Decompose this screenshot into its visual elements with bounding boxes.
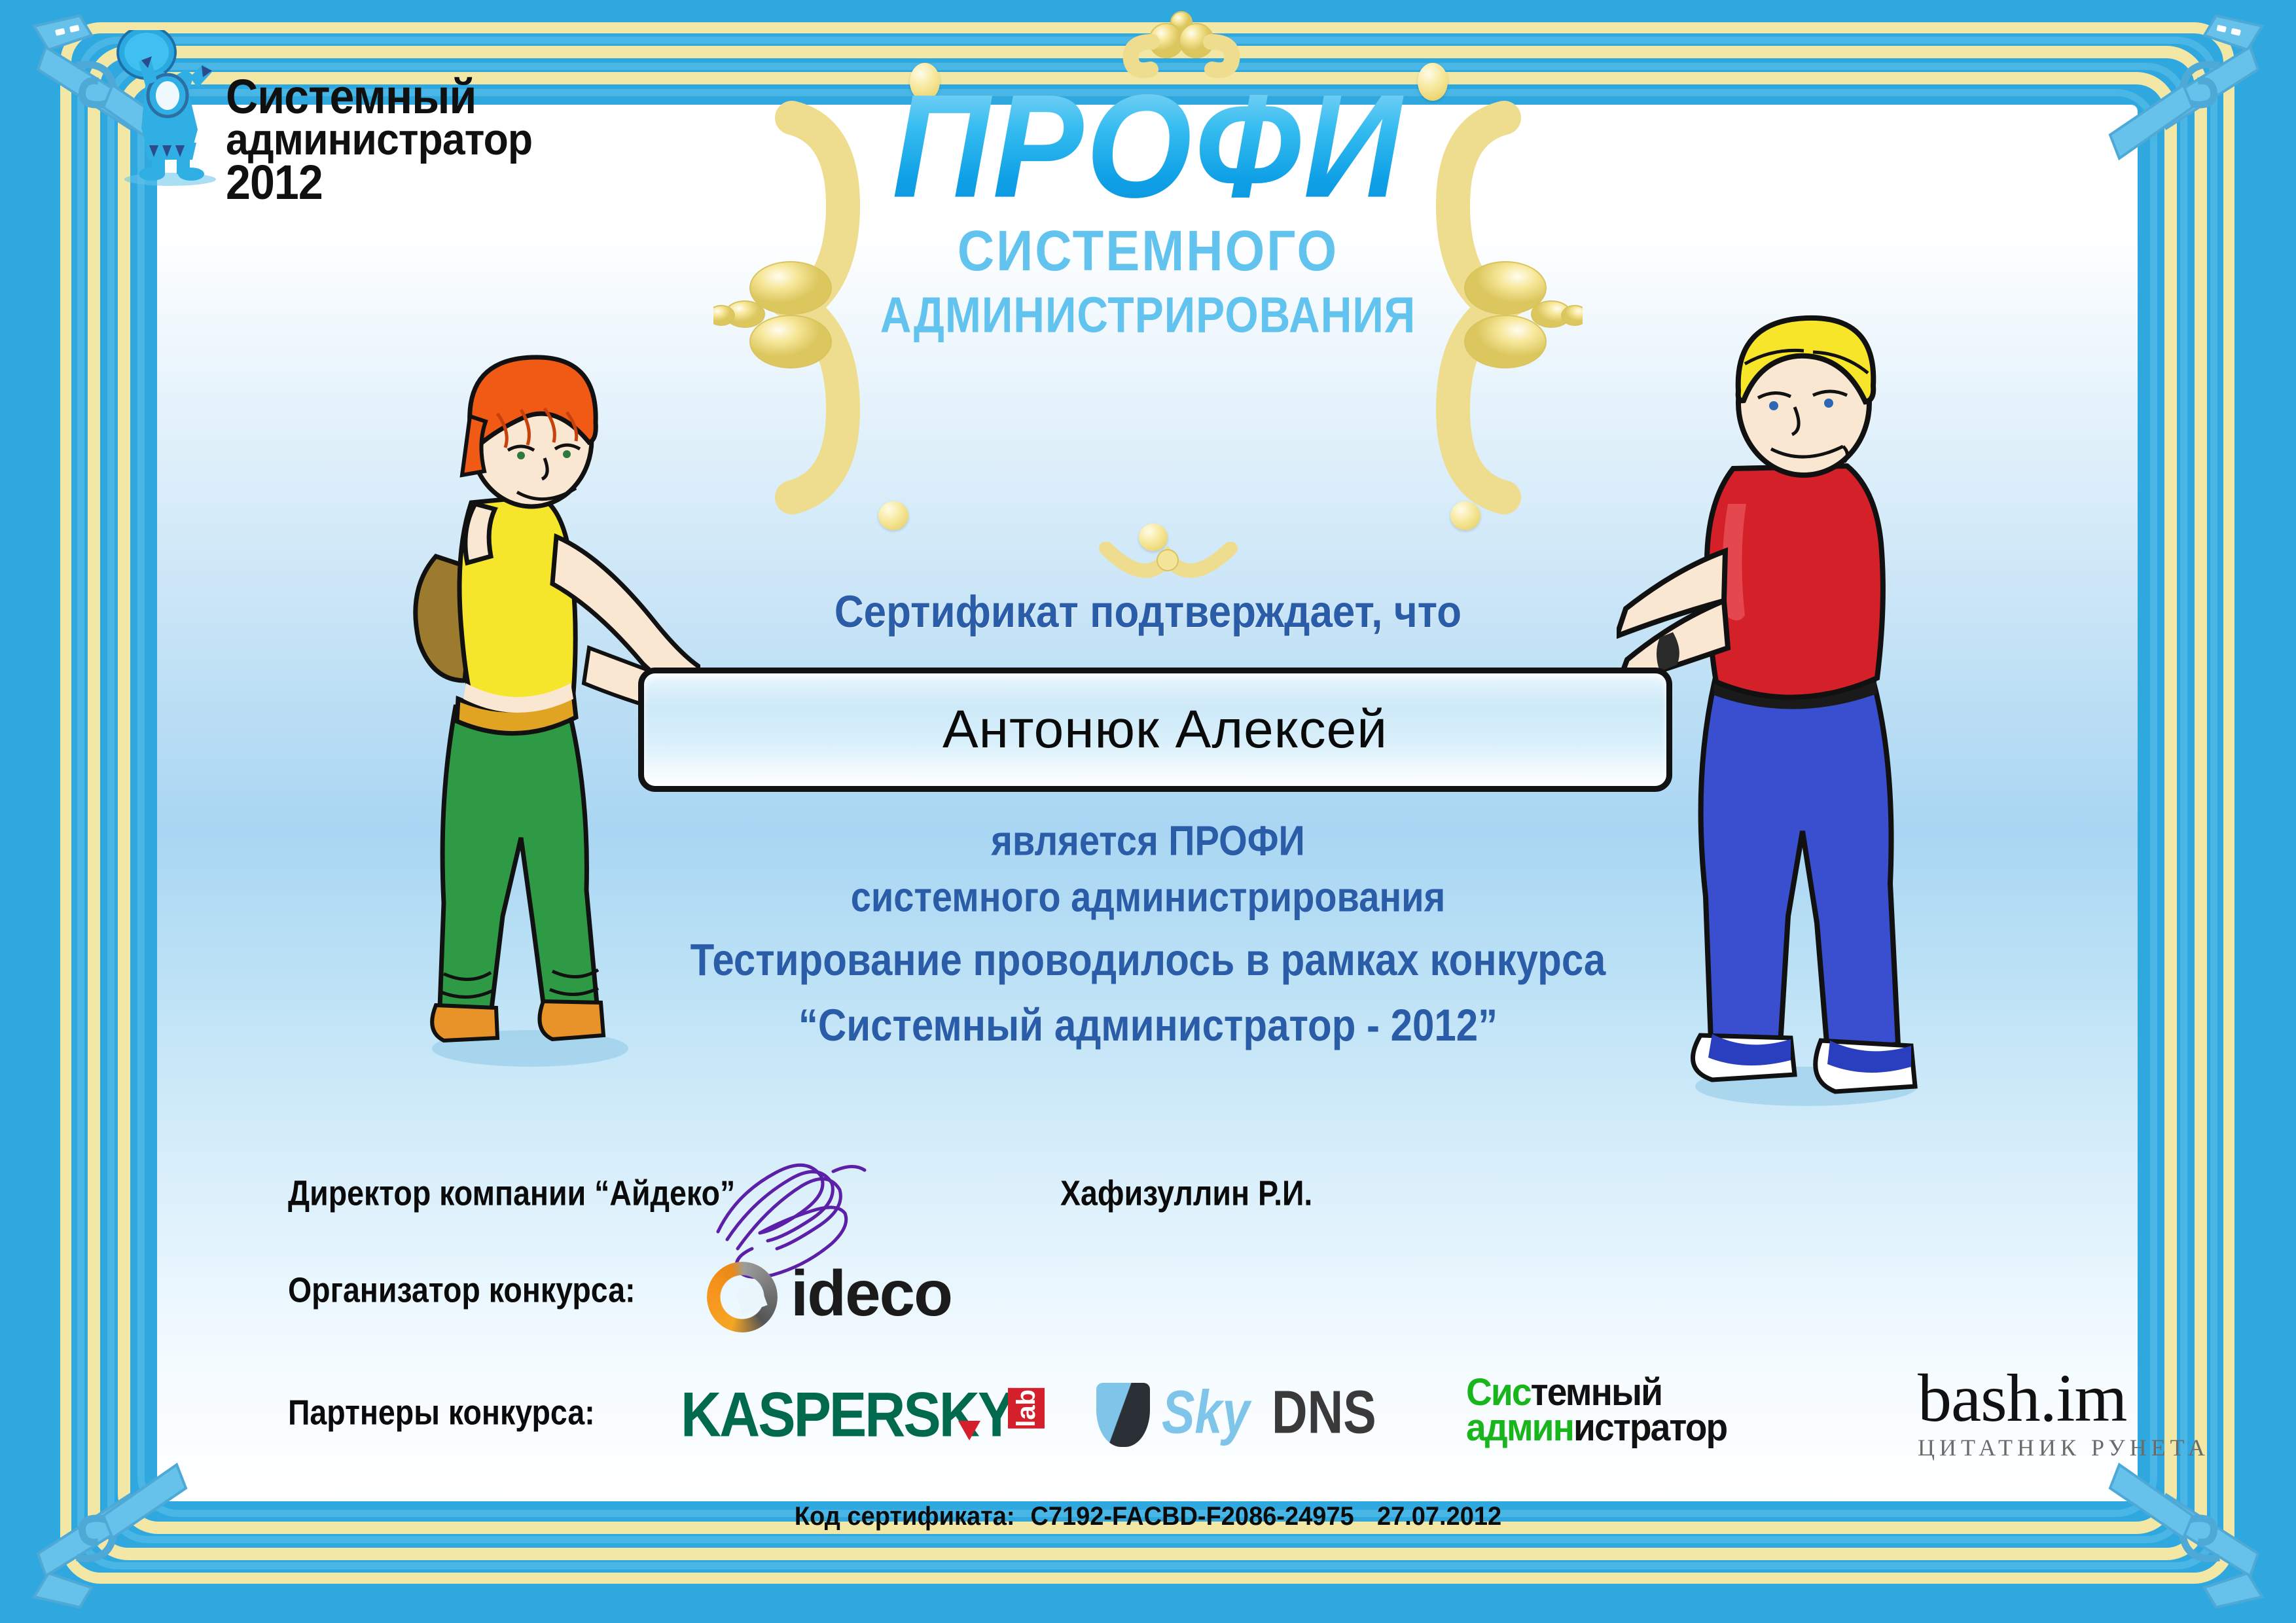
kaspersky-lab-badge: lab: [1008, 1388, 1045, 1429]
sysadmin-magazine-line-2: администратор: [1466, 1409, 1814, 1447]
recipient-name: Антонюк Алексей: [644, 699, 1666, 760]
logo-line-3: 2012: [226, 160, 532, 205]
sysadmin-magazine-l2-black: истратор: [1573, 1406, 1727, 1449]
organizer-label: Организатор конкурса:: [288, 1270, 636, 1311]
eskimo-mascot-icon: [105, 30, 236, 187]
body-line-2: системного администрирования: [0, 872, 2296, 921]
bashim-tagline: ЦИТАТНИК РУНЕТА: [1918, 1434, 2258, 1461]
ideco-logo: ideco: [707, 1253, 982, 1344]
logo-line-2: администратор: [226, 119, 532, 160]
bashim-logo-icon: bash.im ЦИТАТНИК РУНЕТА: [1918, 1364, 2258, 1463]
certificate-code-row: Код сертификата: C7192-FACBD-F2086-24975…: [58, 1502, 2239, 1531]
organizer-row: Организатор конкурса: ideco: [288, 1258, 1728, 1343]
body-line-4: “Системный администратор - 2012”: [0, 999, 2296, 1051]
kaspersky-wordmark: KASPERSKY: [681, 1379, 1013, 1452]
recipient-name-banner: Антонюк Алексей: [638, 668, 1672, 792]
profi-subtitle-2: АДМИНИСТРИРОВАНИЯ: [736, 286, 1560, 344]
logo-line-1: Системный: [226, 75, 532, 119]
certificate-root: Системный администратор 2012: [0, 0, 2296, 1623]
body-line-1: является ПРОФИ: [0, 816, 2296, 865]
director-label: Директор компании “Айдеко”: [288, 1173, 735, 1214]
issue-date: 27.07.2012: [1377, 1502, 1501, 1531]
director-signature-row: Директор компании “Айдеко” Хафизуллин Р.…: [288, 1165, 1728, 1250]
skydns-logo-icon: Sky DNS: [1096, 1379, 1404, 1451]
partners-row: Партнеры конкурса: KASPERSKY lab Sky DNS…: [288, 1371, 2055, 1469]
bashim-wordmark: bash.im: [1918, 1364, 2258, 1433]
ideco-wordmark: ideco: [791, 1257, 952, 1330]
skydns-shield-icon: [1096, 1383, 1150, 1447]
director-name: Хафизуллин Р.И.: [1060, 1173, 1312, 1214]
skydns-dns-text: DNS: [1272, 1378, 1376, 1448]
sysadmin-2012-logo: Системный администратор 2012: [105, 26, 628, 190]
code-label: Код сертификата:: [795, 1502, 1015, 1531]
profi-subtitle-1: СИСТЕМНОГО: [736, 218, 1560, 285]
kaspersky-triangle-icon: [958, 1421, 980, 1440]
kaspersky-logo-icon: KASPERSKY lab: [681, 1379, 1047, 1451]
gold-drop-icon-4: [1450, 501, 1480, 530]
gold-drop-icon-3: [878, 501, 908, 530]
profi-wordmark: ПРОФИ: [736, 73, 1560, 221]
partners-label: Партнеры конкурса:: [288, 1392, 595, 1433]
skydns-sky-text: Sky: [1162, 1378, 1250, 1448]
confirmation-line: Сертификат подтверждает, что: [0, 586, 2296, 637]
body-line-3: Тестирование проводилось в рамках конкур…: [0, 934, 2296, 986]
sysadmin-magazine-l2-green: админ: [1466, 1406, 1573, 1449]
profi-headline-block: ПРОФИ СИСТЕМНОГО АДМИНИСТРИРОВАНИЯ: [736, 79, 1560, 340]
cable-tie-icon-top-right: [2085, 7, 2282, 203]
sysadmin-logo-wordmark: Системный администратор 2012: [226, 75, 559, 205]
code-value: C7192-FACBD-F2086-24975: [1030, 1502, 1354, 1531]
sysadmin-magazine-logo-icon: Системный администратор: [1466, 1374, 1833, 1459]
